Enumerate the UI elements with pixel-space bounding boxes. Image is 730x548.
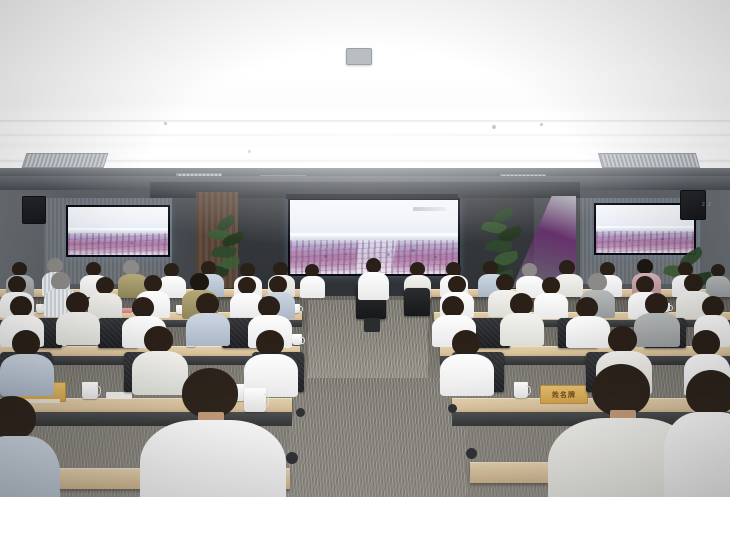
screenshot-canvas: 2.2 2.1: [0, 0, 730, 548]
screen-watermark: [413, 207, 447, 211]
chair-base-front-center: [364, 318, 380, 332]
wall-label-right: 2.2: [702, 202, 712, 208]
mug-r4-3: [514, 382, 528, 398]
ceiling-sensor: [346, 48, 372, 65]
chair-front-right-1: [404, 288, 430, 316]
wall-speaker-left: [22, 196, 46, 224]
mug-foreground-left: [244, 388, 266, 412]
chair-caster-mid: [296, 408, 305, 417]
ceiling-spot-center: [492, 125, 496, 129]
mug-r2-1: [36, 304, 44, 313]
left-led-panel: [66, 205, 170, 257]
nameplate-right-text: 姓名牌: [552, 390, 576, 400]
main-screen-bezel: [286, 194, 458, 199]
chair-caster-mid-right: [448, 404, 457, 413]
mug-r3-3: [292, 334, 302, 345]
nameplate-right: 姓名牌: [540, 385, 588, 404]
paper-r4-1: [106, 392, 132, 399]
chair-caster-left: [286, 452, 298, 464]
center-aisle-near: [288, 378, 466, 497]
conference-room-photo: 2.2 2.1: [0, 0, 730, 497]
hvac-grille-left: [22, 153, 109, 168]
wall-label-center: 2.1: [624, 238, 634, 244]
chair-caster-right: [466, 448, 477, 459]
letterbox-bottom: [0, 497, 730, 548]
hvac-grille-right: [598, 153, 700, 168]
ceiling-spot-right: [540, 123, 543, 126]
mug-r4-1: [82, 382, 98, 399]
ceiling-spot-center2: [248, 150, 251, 153]
ceiling-spot-left: [164, 122, 167, 125]
